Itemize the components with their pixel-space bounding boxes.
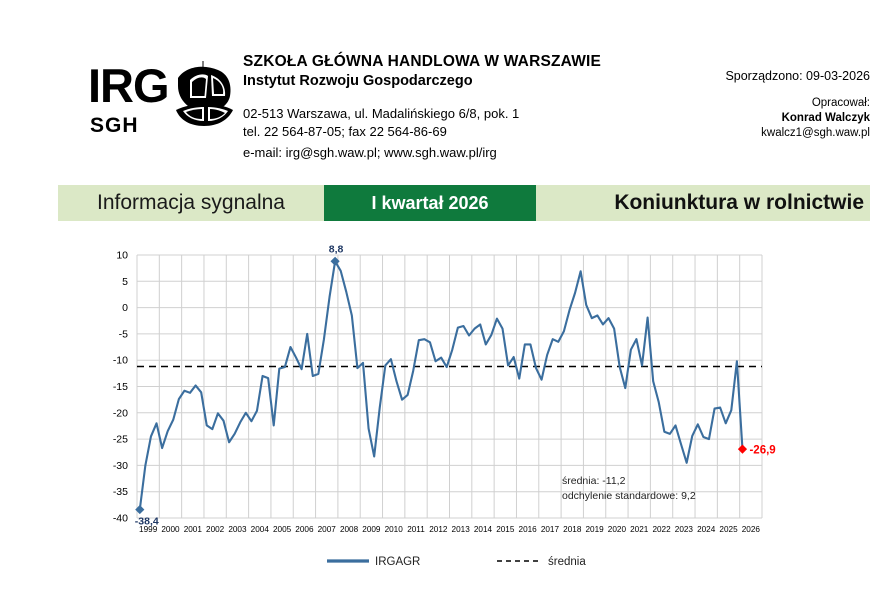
- title-banner: Informacja sygnalna I kwartał 2026 Koniu…: [58, 185, 870, 221]
- x-tick-label: 2015: [496, 525, 515, 534]
- y-tick-label: -40: [113, 513, 128, 525]
- phone-line: tel. 22 564-87-05; fax 22 564-86-69: [243, 123, 663, 141]
- y-tick-label: -10: [113, 355, 128, 367]
- banner-title: Koniunktura w rolnictwie: [536, 185, 870, 221]
- x-tick-label: 2006: [295, 525, 314, 534]
- y-tick-label: 10: [116, 250, 128, 262]
- y-tick-label: -15: [113, 381, 128, 393]
- meta-block: Sporządzono: 09-03-2026 Opracował: Konra…: [725, 68, 870, 141]
- prepared-by-name: Konrad Walczyk: [725, 111, 870, 126]
- y-tick-label: 5: [122, 276, 128, 288]
- y-tick-label: -20: [113, 407, 128, 419]
- prepared-by-email: kwalcz1@sgh.waw.pl: [725, 126, 870, 141]
- y-tick-label: 0: [122, 302, 128, 314]
- x-tick-label: 2014: [474, 525, 493, 534]
- x-tick-label: 2022: [652, 525, 671, 534]
- page-header: IRG SGH SZKOŁA GŁÓWNA HANDLOWA W WARSZAW…: [0, 0, 882, 178]
- x-tick-label: 2010: [385, 525, 404, 534]
- x-tick-label: 2012: [429, 525, 448, 534]
- x-tick-label: 2024: [697, 525, 716, 534]
- x-axis: 1999200020012002200320042005200620072008…: [139, 525, 760, 534]
- x-tick-label: 2011: [407, 525, 425, 534]
- y-tick-label: -25: [113, 434, 128, 446]
- chart-gridlines: [137, 255, 762, 518]
- x-tick-label: 2001: [184, 525, 203, 534]
- x-tick-label: 2007: [318, 525, 337, 534]
- x-tick-label: 2025: [719, 525, 738, 534]
- x-tick-label: 2020: [608, 525, 627, 534]
- last-value-label: -26,9: [749, 445, 775, 457]
- irgagr-series-line: [140, 261, 743, 509]
- stat-mean-text: średnia: -11,2: [562, 475, 626, 487]
- x-tick-label: 2008: [340, 525, 359, 534]
- x-tick-label: 2004: [251, 525, 270, 534]
- irgagr-line-chart: 1050-5-10-15-20-25-30-35-401999200020012…: [0, 232, 882, 582]
- x-tick-label: 2021: [630, 525, 649, 534]
- y-tick-label: -5: [119, 328, 128, 340]
- banner-label-informacja: Informacja sygnalna: [58, 185, 324, 221]
- organization-block: SZKOŁA GŁÓWNA HANDLOWA W WARSZAWIE Insty…: [243, 52, 663, 162]
- x-tick-label: 2023: [675, 525, 694, 534]
- x-tick-label: 2013: [452, 525, 471, 534]
- legend-label-irgagr: IRGAGR: [375, 556, 420, 568]
- x-tick-label: 2019: [585, 525, 604, 534]
- prepared-by-label: Opracował:: [725, 96, 870, 111]
- peak-value-label: 8,8: [329, 243, 344, 255]
- legend-label-srednia: średnia: [548, 556, 586, 568]
- first-value-label: -38,4: [135, 516, 159, 528]
- logo-text-irg: IRG: [88, 62, 169, 109]
- x-tick-label: 2000: [161, 525, 180, 534]
- logo-text-sgh: SGH: [90, 114, 139, 138]
- x-tick-label: 2002: [206, 525, 225, 534]
- x-tick-label: 2026: [742, 525, 761, 534]
- x-tick-label: 2018: [563, 525, 582, 534]
- x-tick-label: 2005: [273, 525, 292, 534]
- x-tick-label: 2009: [362, 525, 381, 534]
- irg-sgh-logo: IRG SGH: [88, 58, 236, 158]
- banner-quarter: I kwartał 2026: [324, 185, 536, 221]
- y-tick-label: -30: [113, 460, 128, 472]
- y-axis: 1050-5-10-15-20-25-30-35-40: [113, 250, 128, 525]
- stat-stdev-text: odchylenie standardowe: 9,2: [562, 490, 696, 502]
- y-tick-label: -35: [113, 486, 128, 498]
- chart-legend: IRGAGRśrednia: [327, 556, 586, 568]
- address-line: 02-513 Warszawa, ul. Madalińskiego 6/8, …: [243, 105, 663, 123]
- org-name: SZKOŁA GŁÓWNA HANDLOWA W WARSZAWIE: [243, 52, 663, 71]
- email-line: e-mail: irg@sgh.waw.pl; www.sgh.waw.pl/i…: [243, 144, 663, 162]
- institute-name: Instytut Rozwoju Gospodarczego: [243, 72, 663, 91]
- ship-icon: [170, 58, 236, 149]
- x-tick-label: 2003: [228, 525, 247, 534]
- chart-container: 1050-5-10-15-20-25-30-35-401999200020012…: [0, 232, 882, 582]
- prepared-date: Sporządzono: 09-03-2026: [725, 68, 870, 84]
- x-tick-label: 2016: [519, 525, 538, 534]
- x-tick-label: 2017: [541, 525, 560, 534]
